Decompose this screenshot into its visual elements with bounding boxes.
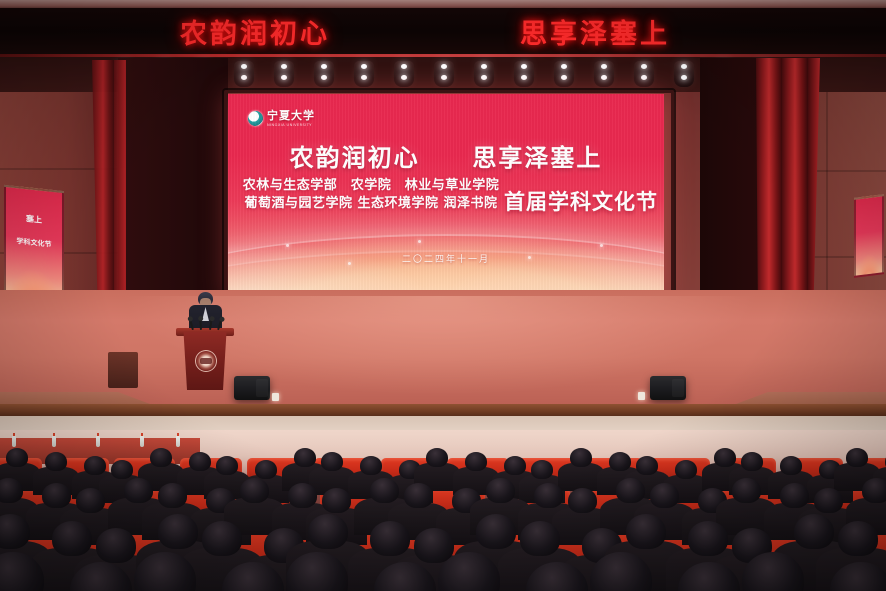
audience-member-head [465, 452, 487, 471]
audience-member-head [42, 483, 71, 508]
audience-member-head [675, 460, 697, 479]
audience-member-head [838, 521, 878, 556]
audience-member-head [732, 478, 761, 503]
stage-monitor-speaker [650, 376, 686, 400]
stage-lamp-icon [394, 61, 414, 87]
audience-member-head [76, 488, 105, 513]
audience-member-head [322, 488, 351, 513]
stage-lamp-icon [674, 61, 694, 87]
audience-member-head [0, 478, 23, 503]
audience-member-head [780, 483, 809, 508]
water-bottle [176, 436, 180, 447]
stage-lamp-icon [474, 61, 494, 87]
audience-member-head [189, 452, 211, 471]
speaker-podium [176, 292, 234, 392]
audience-member-head [404, 483, 433, 508]
audience-member-head [846, 448, 868, 467]
audience-member-head [688, 521, 728, 556]
audience-member-head [814, 488, 843, 513]
ticker-text-left: 农韵润初心 [180, 12, 330, 51]
audience-member-head [426, 448, 448, 467]
audience-member-head [216, 456, 238, 475]
stage-lamp-icon [514, 61, 534, 87]
audience-member-head [52, 521, 92, 556]
audience-member-head [96, 528, 136, 563]
audience-member-head [288, 483, 317, 508]
water-bottle [140, 436, 144, 447]
audience-member-head [609, 452, 631, 471]
stage-lamp-icon [594, 61, 614, 87]
left-panel-line-1: 塞上 [6, 211, 62, 228]
audience-member-head [570, 448, 592, 467]
water-bottle [12, 436, 16, 447]
audience-member-head [124, 478, 153, 503]
auditorium-photo: 农韵润初心 思享泽塞上 宁夏大学 NINGXIA UNIVERSITY 农韵润初… [0, 0, 886, 591]
stage-floor-light [272, 393, 279, 401]
audience-member-head [308, 514, 348, 549]
audience-member-head [84, 456, 106, 475]
audience-member-head [255, 460, 277, 479]
audience-member-head [650, 483, 679, 508]
audience-member-head [202, 521, 242, 556]
right-panel-line-1 [856, 220, 882, 223]
audience-member-head [862, 478, 886, 503]
audience-member-head [520, 521, 560, 556]
audience-member-head [476, 514, 516, 549]
stage-lamp-icon [274, 61, 294, 87]
stage-monitor-speaker [234, 376, 270, 400]
stage-lamp-icon [434, 61, 454, 87]
audience-member-head [568, 488, 597, 513]
audience-member-head [6, 448, 28, 467]
audience-member-head [111, 460, 133, 479]
water-bottle [96, 436, 100, 447]
audience-member-head [780, 456, 802, 475]
water-bottle [52, 436, 56, 447]
audience-member-head [741, 452, 763, 471]
left-panel-line-2: 学科文化节 [6, 235, 62, 251]
audience-area [0, 430, 886, 591]
audience-member-head [794, 514, 834, 549]
stage-wing-equipment-box [108, 352, 138, 388]
audience-member-head [360, 456, 382, 475]
audience-member-head [240, 478, 269, 503]
left-wall-display-panel: 塞上 学科文化节 [4, 185, 64, 303]
stage-lamp-icon [554, 61, 574, 87]
audience-member-head [370, 521, 410, 556]
audience-member-head [714, 448, 736, 467]
right-wall-display-panel [854, 194, 884, 278]
microphone-icon [199, 319, 202, 330]
stage-lamp-icon [634, 61, 654, 87]
screen-bezel [224, 90, 674, 310]
ticker-text-right: 思享泽塞上 [520, 12, 670, 51]
stage-lamp-icon [314, 61, 334, 87]
audience-member-head [158, 483, 187, 508]
audience-member-head [370, 478, 399, 503]
audience-member-head [321, 452, 343, 471]
audience-member-head [636, 456, 658, 475]
led-ticker-banner: 农韵润初心 思享泽塞上 [0, 8, 886, 55]
audience-member-head [504, 456, 526, 475]
right-panel-line-2 [856, 244, 882, 247]
stage-lamp-icon [354, 61, 374, 87]
stage-floor-light [638, 392, 645, 400]
audience-member-head [626, 514, 666, 549]
audience-member-head [531, 460, 553, 479]
audience-member-head [534, 483, 563, 508]
audience-member-head [294, 448, 316, 467]
audience-member-head [616, 478, 645, 503]
audience-member-head [486, 478, 515, 503]
podium-emblem-icon [195, 350, 217, 372]
audience-member-head [158, 514, 198, 549]
stage-lamp-icon [234, 61, 254, 87]
audience-member-head [45, 452, 67, 471]
audience-member-head [150, 448, 172, 467]
